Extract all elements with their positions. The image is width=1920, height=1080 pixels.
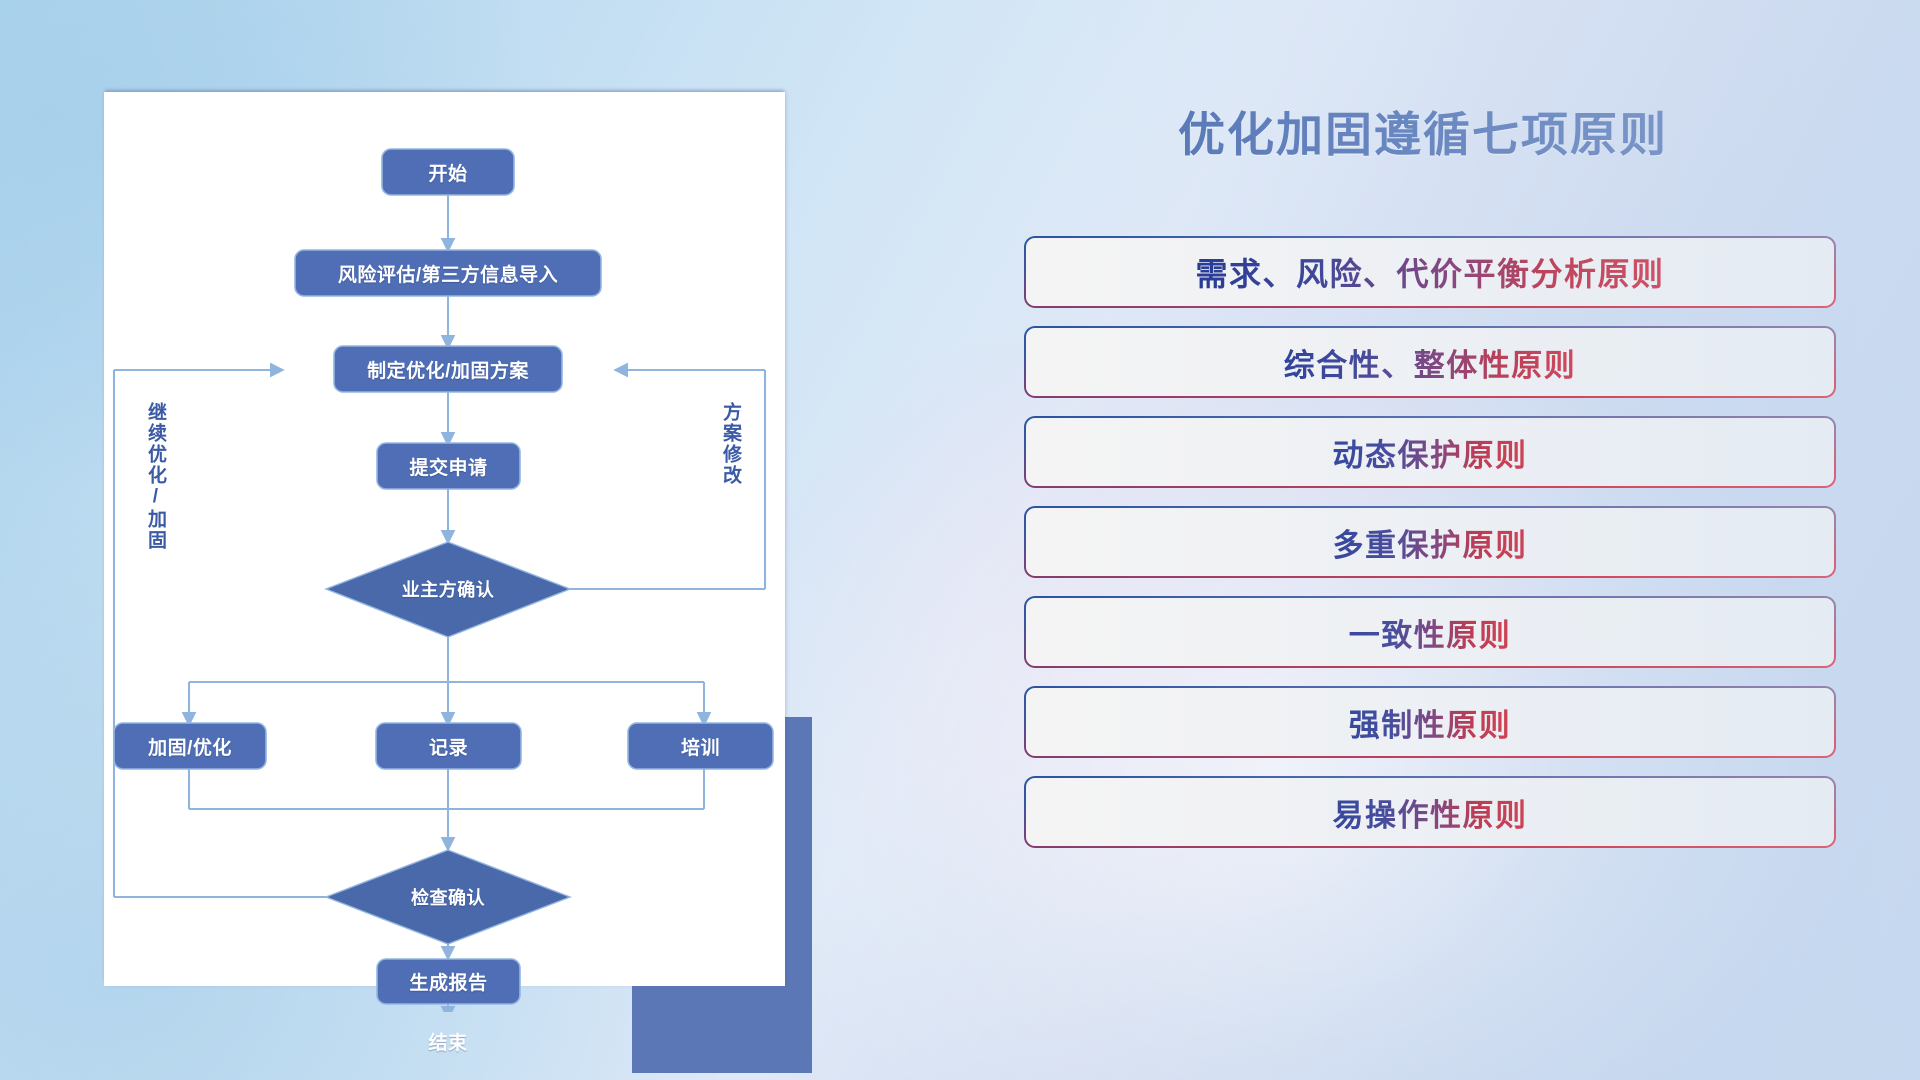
principles-panel: 优化加固遵循七项原则 需求、风险、代价平衡分析原则 综合性、整体性原则 动态保护…: [1024, 96, 1836, 1016]
principle-label: 需求、风险、代价平衡分析原则: [1195, 249, 1664, 295]
flow-node-end-label: 结束: [394, 1019, 502, 1064]
principle-label: 综合性、整体性原则: [1284, 340, 1577, 385]
flow-edge-label-right-loop: 方案修改: [720, 402, 740, 486]
principle-card-2[interactable]: 综合性、整体性原则: [1024, 326, 1836, 398]
slide-canvas: 开始 风险评估/第三方信息导入 制定优化/加固方案 提交申请 业主方确认 加固/…: [0, 0, 1920, 1080]
principle-label: 强制性原则: [1349, 700, 1512, 745]
flow-edge-label-left-loop: 继续优化/加固: [145, 402, 165, 551]
principle-card-3[interactable]: 动态保护原则: [1024, 416, 1836, 488]
flowchart-diagram-lower: [104, 92, 785, 986]
principle-label: 易操作性原则: [1333, 790, 1528, 835]
principle-label: 一致性原则: [1349, 610, 1512, 655]
principle-card-1[interactable]: 需求、风险、代价平衡分析原则: [1024, 236, 1836, 308]
principle-card-inner: 需求、风险、代价平衡分析原则: [1026, 238, 1834, 306]
principle-card-4[interactable]: 多重保护原则: [1024, 506, 1836, 578]
principle-card-6[interactable]: 强制性原则: [1024, 686, 1836, 758]
principle-card-inner: 一致性原则: [1026, 598, 1834, 666]
principle-card-inner: 动态保护原则: [1026, 418, 1834, 486]
flowchart-region: 开始 风险评估/第三方信息导入 制定优化/加固方案 提交申请 业主方确认 加固/…: [104, 92, 804, 992]
principle-label: 多重保护原则: [1333, 520, 1528, 565]
principles-list: 需求、风险、代价平衡分析原则 综合性、整体性原则 动态保护原则 多重保护原则: [1024, 236, 1836, 866]
principle-card-7[interactable]: 易操作性原则: [1024, 776, 1836, 848]
principle-card-inner: 强制性原则: [1026, 688, 1834, 756]
principle-card-inner: 多重保护原则: [1026, 508, 1834, 576]
principle-card-5[interactable]: 一致性原则: [1024, 596, 1836, 668]
principle-label: 动态保护原则: [1333, 430, 1528, 475]
principle-card-inner: 综合性、整体性原则: [1026, 328, 1834, 396]
flowchart-white-plate: 开始 风险评估/第三方信息导入 制定优化/加固方案 提交申请 业主方确认 加固/…: [104, 92, 785, 986]
page-title: 优化加固遵循七项原则: [1028, 96, 1818, 165]
principle-card-inner: 易操作性原则: [1026, 778, 1834, 846]
